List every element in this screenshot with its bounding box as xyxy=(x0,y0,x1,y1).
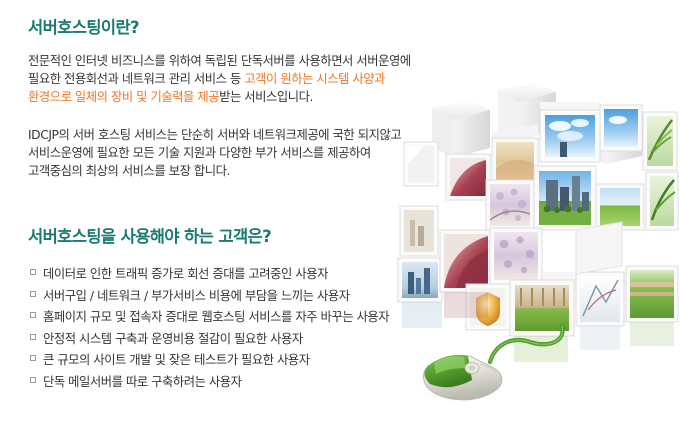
list-item-label: 서버구입 / 네트워크 / 부가서비스 비용에 부담을 느끼는 사용자 xyxy=(43,286,350,308)
list-item: 단독 메일서버를 따로 구축하려는 사용자 xyxy=(30,372,389,394)
page-title-intro: 서버호스팅이란? xyxy=(28,18,139,38)
cube-face-sky-2 xyxy=(600,105,642,151)
bullet-square-icon xyxy=(30,355,36,361)
cube-face-blank-2 xyxy=(400,206,438,256)
list-item-label: 큰 규모의 사이트 개발 및 잦은 테스트가 필요한 사용자 xyxy=(43,350,310,372)
cube-face-tropical-plant xyxy=(646,172,678,230)
list-item: 데이터로 인한 트래픽 증가로 회선 증대를 고려중인 사용자 xyxy=(30,264,389,286)
list-item: 서버구입 / 네트워크 / 부가서비스 비용에 부담을 느끼는 사용자 xyxy=(30,286,389,308)
intro-p2-line2: 서비스운영에 필요한 모든 기술 지원과 다양한 부가 서비스를 제공하여 xyxy=(28,144,401,162)
list-item-label: 안정적 시스템 구축과 운영비용 절감이 필요한 사용자 xyxy=(43,329,303,351)
intro-p1-line2-plain: 필요한 전용회선과 네트워크 관리 서비스 등 xyxy=(28,72,244,86)
list-item: 큰 규모의 사이트 개발 및 잦은 테스트가 필요한 사용자 xyxy=(30,350,389,372)
page-title-customers: 서버호스팅을 사용해야 하는 고객은? xyxy=(28,227,271,247)
cube-face-paper-sketch xyxy=(576,272,624,326)
list-item-label: 데이터로 인한 트래픽 증가로 회선 증대를 고려중인 사용자 xyxy=(43,264,328,286)
intro-p2-line3: 고객중심의 최상의 서비스를 보장 합니다. xyxy=(28,162,401,180)
list-item: 홈페이지 규모 및 접속자 증대로 웹호스팅 서비스를 자주 바꾸는 사용자 xyxy=(30,307,389,329)
customer-list: 데이터로 인한 트래픽 증가로 회선 증대를 고려중인 사용자 서버구입 / 네… xyxy=(30,264,389,393)
intro-p1-line3-plain: 받는 서비스입니다. xyxy=(219,90,313,104)
list-item-label: 단독 메일서버를 따로 구축하려는 사용자 xyxy=(43,372,242,394)
intro-p1-line2: 필요한 전용회선과 네트워크 관리 서비스 등 고객이 원하는 시스템 사양과 xyxy=(28,70,411,88)
cube-face-red-fabric xyxy=(446,154,490,200)
list-item-label: 홈페이지 규모 및 접속자 증대로 웹호스팅 서비스를 자주 바꾸는 사용자 xyxy=(43,307,389,329)
bullet-square-icon xyxy=(30,291,36,297)
bullet-square-icon xyxy=(30,312,36,318)
cube-face-blank-3 xyxy=(576,222,622,274)
page-root: 서버호스팅이란? 전문적인 인터넷 비즈니스를 위하여 독립된 단독서버를 사용… xyxy=(0,0,680,425)
cube-face-blank-1 xyxy=(404,142,438,186)
intro-p1-line1: 전문적인 인터넷 비즈니스를 위하여 독립된 단독서버를 사용하면서 서버운영에 xyxy=(28,52,411,70)
bullet-square-icon xyxy=(30,269,36,275)
list-item: 안정적 시스템 구축과 운영비용 절감이 필요한 사용자 xyxy=(30,329,389,351)
bullet-square-icon xyxy=(30,334,36,340)
intro-p2-line1: IDCJP의 서버 호스팅 서비스는 단순히 서버와 네트워크제공에 국한 되지… xyxy=(28,126,401,144)
intro-paragraph-2: IDCJP의 서버 호스팅 서비스는 단순히 서버와 네트워크제공에 국한 되지… xyxy=(28,126,401,180)
cube-face-cherry-blossom xyxy=(486,180,534,230)
cube-face-sky-clouds xyxy=(540,102,600,162)
cube-face-grass-lawn xyxy=(626,266,678,322)
cube-face-city-skyscrapers xyxy=(534,166,596,230)
bullet-square-icon xyxy=(30,377,36,383)
intro-p1-line3: 환경으로 일체의 장비 및 기술력을 제공받는 서비스입니다. xyxy=(28,88,411,106)
intro-p1-line3-highlight: 환경으로 일체의 장비 및 기술력을 제공 xyxy=(28,90,219,104)
cube-wall-with-mouse-illustration xyxy=(390,80,680,425)
intro-paragraph-1: 전문적인 인터넷 비즈니스를 위하여 독립된 단독서버를 사용하면서 서버운영에… xyxy=(28,52,411,106)
cube-face-palm-leaf xyxy=(643,112,677,170)
cube-face-blossom-2 xyxy=(490,228,542,284)
cube-face-sand-dune xyxy=(492,124,538,184)
intro-p1-line2-highlight: 고객이 원하는 시스템 사양과 xyxy=(244,72,385,86)
cube-face-night-skyline xyxy=(398,258,442,302)
cube-face-red-fabric-2 xyxy=(440,230,492,292)
